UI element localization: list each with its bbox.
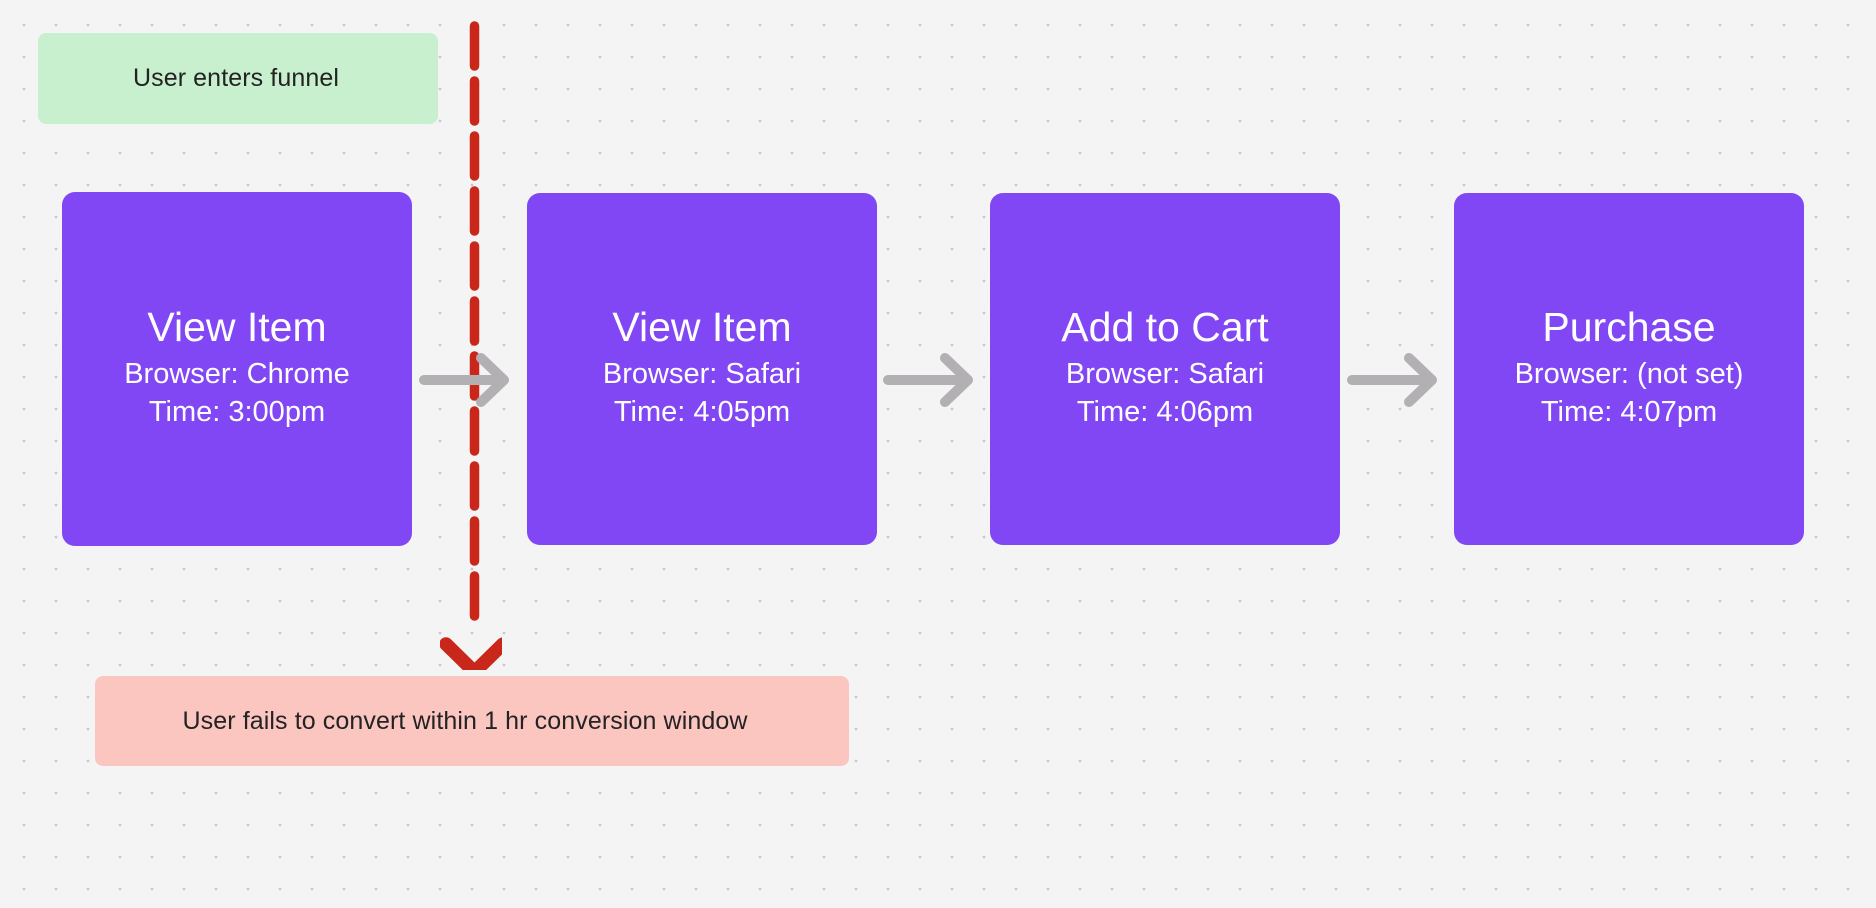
failure-annotation-box: User fails to convert within 1 hr conver… xyxy=(95,676,849,766)
entry-annotation-box: User enters funnel xyxy=(38,33,438,124)
step-time: Time: 4:05pm xyxy=(614,393,790,432)
step-title: View Item xyxy=(147,306,326,350)
step-browser: Browser: (not set) xyxy=(1515,355,1744,394)
step-browser: Browser: Safari xyxy=(603,355,801,394)
step-card[interactable]: Add to Cart Browser: Safari Time: 4:06pm xyxy=(990,193,1340,545)
step-browser: Browser: Safari xyxy=(1066,355,1264,394)
diagram-canvas: User enters funnel View Item Browser: Ch… xyxy=(0,0,1876,908)
step-time: Time: 4:07pm xyxy=(1541,393,1717,432)
step-time: Time: 3:00pm xyxy=(149,393,325,432)
step-time: Time: 4:06pm xyxy=(1077,393,1253,432)
step-title: Add to Cart xyxy=(1061,306,1268,350)
step-title: Purchase xyxy=(1542,306,1715,350)
step-card[interactable]: Purchase Browser: (not set) Time: 4:07pm xyxy=(1454,193,1804,545)
entry-annotation-label: User enters funnel xyxy=(133,64,339,93)
funnel-steps: View Item Browser: Chrome Time: 3:00pm V… xyxy=(0,192,1876,546)
step-card[interactable]: View Item Browser: Chrome Time: 3:00pm xyxy=(62,192,412,546)
step-card[interactable]: View Item Browser: Safari Time: 4:05pm xyxy=(527,193,877,545)
step-browser: Browser: Chrome xyxy=(124,355,350,394)
failure-annotation-label: User fails to convert within 1 hr conver… xyxy=(182,707,747,736)
step-title: View Item xyxy=(612,306,791,350)
